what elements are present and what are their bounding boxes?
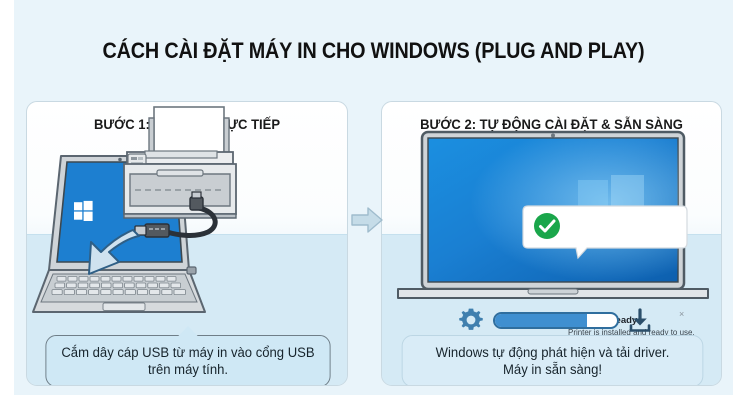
step-1-caption: Cắm dây cáp USB từ máy in vào cổng USB t… <box>45 335 330 386</box>
toast-close-button[interactable]: × <box>679 310 684 319</box>
driver-install-progress-row <box>450 305 660 335</box>
gear-icon <box>458 307 484 333</box>
caption-line-1: Windows tự động phát hiện và tải driver. <box>412 344 692 361</box>
infographic-root: CÁCH CÀI ĐẶT MÁY IN CHO WINDOWS (PLUG AN… <box>0 0 747 409</box>
printer-icon <box>124 107 236 218</box>
step-flow-arrow <box>351 205 383 235</box>
page-title: CÁCH CÀI ĐẶT MÁY IN CHO WINDOWS (PLUG AN… <box>37 38 709 64</box>
step-1-panel: BƯỚC 1: KẾT NỐI TRỰC TIẾP <box>26 101 348 386</box>
laptop-notch-icon <box>528 289 578 294</box>
progress-bar-fill <box>495 314 587 327</box>
caption-line-2: Máy in sẵn sàng! <box>412 361 692 378</box>
webcam-icon <box>551 134 555 138</box>
trackpad-icon <box>103 303 145 311</box>
step-2-panel: BƯỚC 2: TỰ ĐỘNG CÀI ĐẶT & SẴN SÀNG <box>381 101 722 386</box>
caption-line-1: Cắm dây cáp USB từ máy in vào cổng USB <box>56 344 320 361</box>
webcam-icon <box>118 158 122 162</box>
usb-connector-printer-icon <box>190 192 203 210</box>
usb-connector-icon <box>135 224 169 237</box>
download-icon <box>628 308 652 333</box>
laptop-usb-port-icon <box>187 267 196 274</box>
caption-line-2: trên máy tính. <box>56 361 320 378</box>
green-check-icon <box>534 213 560 239</box>
step-2-caption: Windows tự động phát hiện và tải driver.… <box>402 335 704 386</box>
progress-bar <box>493 312 619 329</box>
